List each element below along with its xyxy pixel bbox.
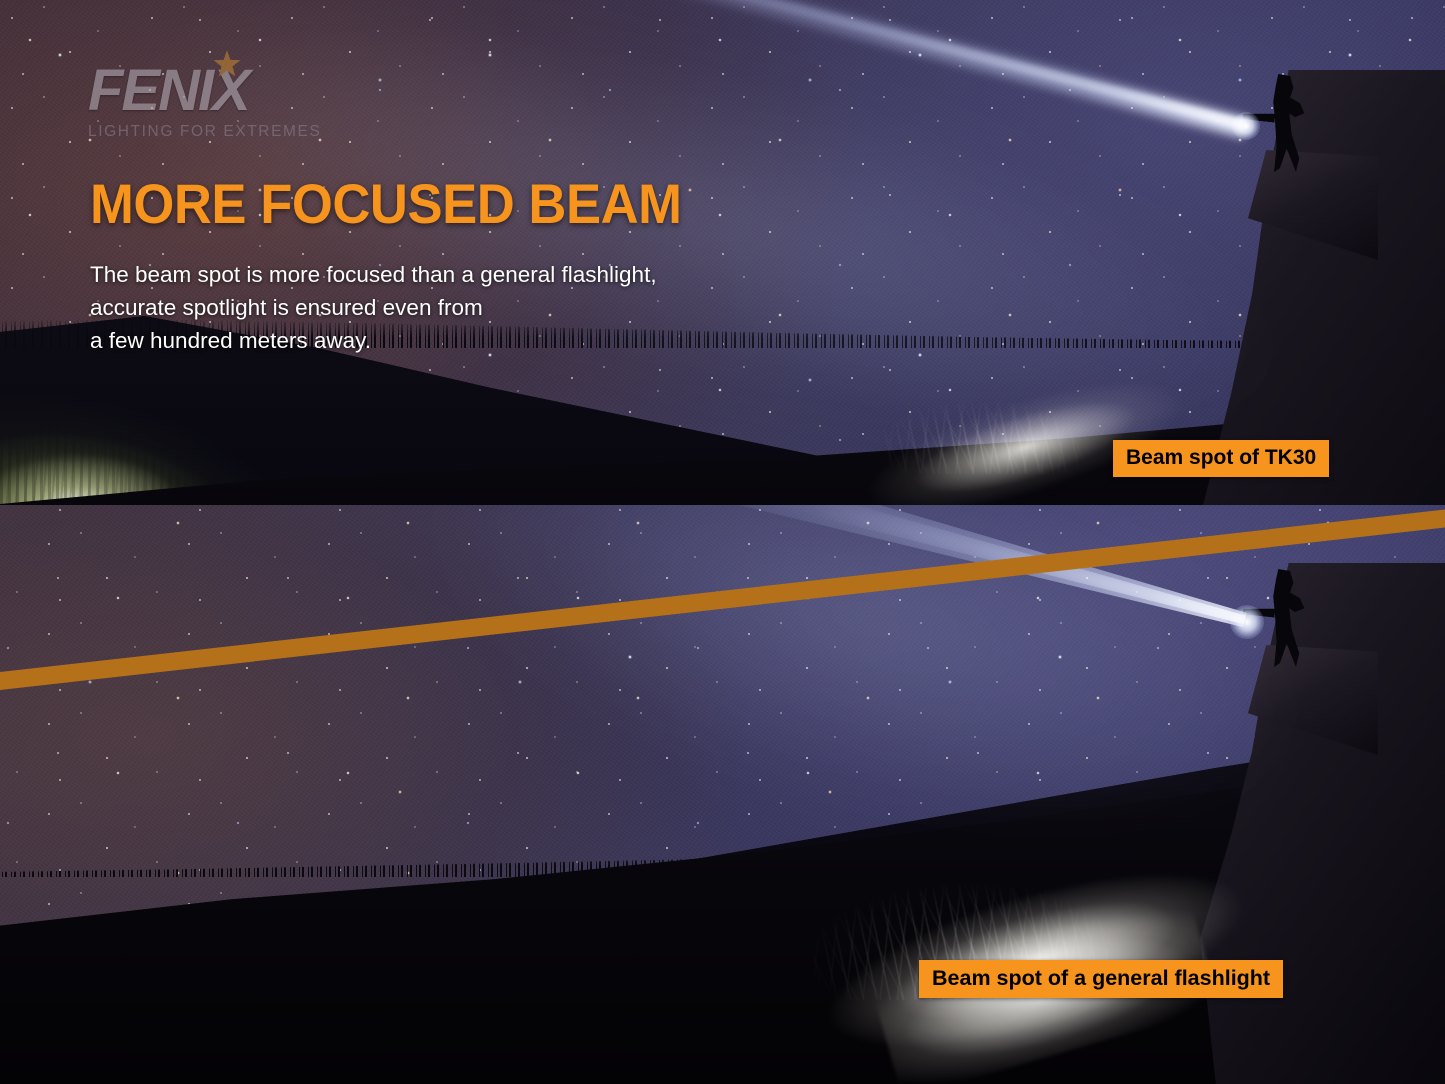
fenix-logo: FENIX LIGHTING FOR EXTREMES	[88, 62, 321, 140]
lit-grass-top	[880, 378, 1110, 474]
body-copy-line-1: The beam spot is more focused than a gen…	[90, 258, 657, 291]
flashlight-muzzle-top	[1232, 112, 1260, 140]
body-copy-line-2: accurate spotlight is ensured even from	[90, 291, 657, 324]
flashlight-muzzle-bottom	[1230, 605, 1264, 639]
callout-beam-spot-tk30: Beam spot of TK30	[1113, 440, 1329, 477]
star-icon	[210, 48, 244, 82]
brand-tagline: LIGHTING FOR EXTREMES	[88, 124, 321, 140]
page-title: MORE FOCUSED BEAM	[90, 176, 682, 232]
beam-comparison-poster: FENIX LIGHTING FOR EXTREMES MORE FOCUSED…	[0, 0, 1445, 1084]
callout-beam-spot-general: Beam spot of a general flashlight	[919, 960, 1283, 998]
brand-wordmark: FENIX	[88, 62, 321, 120]
body-copy: The beam spot is more focused than a gen…	[90, 258, 657, 357]
body-copy-line-3: a few hundred meters away.	[90, 324, 657, 357]
